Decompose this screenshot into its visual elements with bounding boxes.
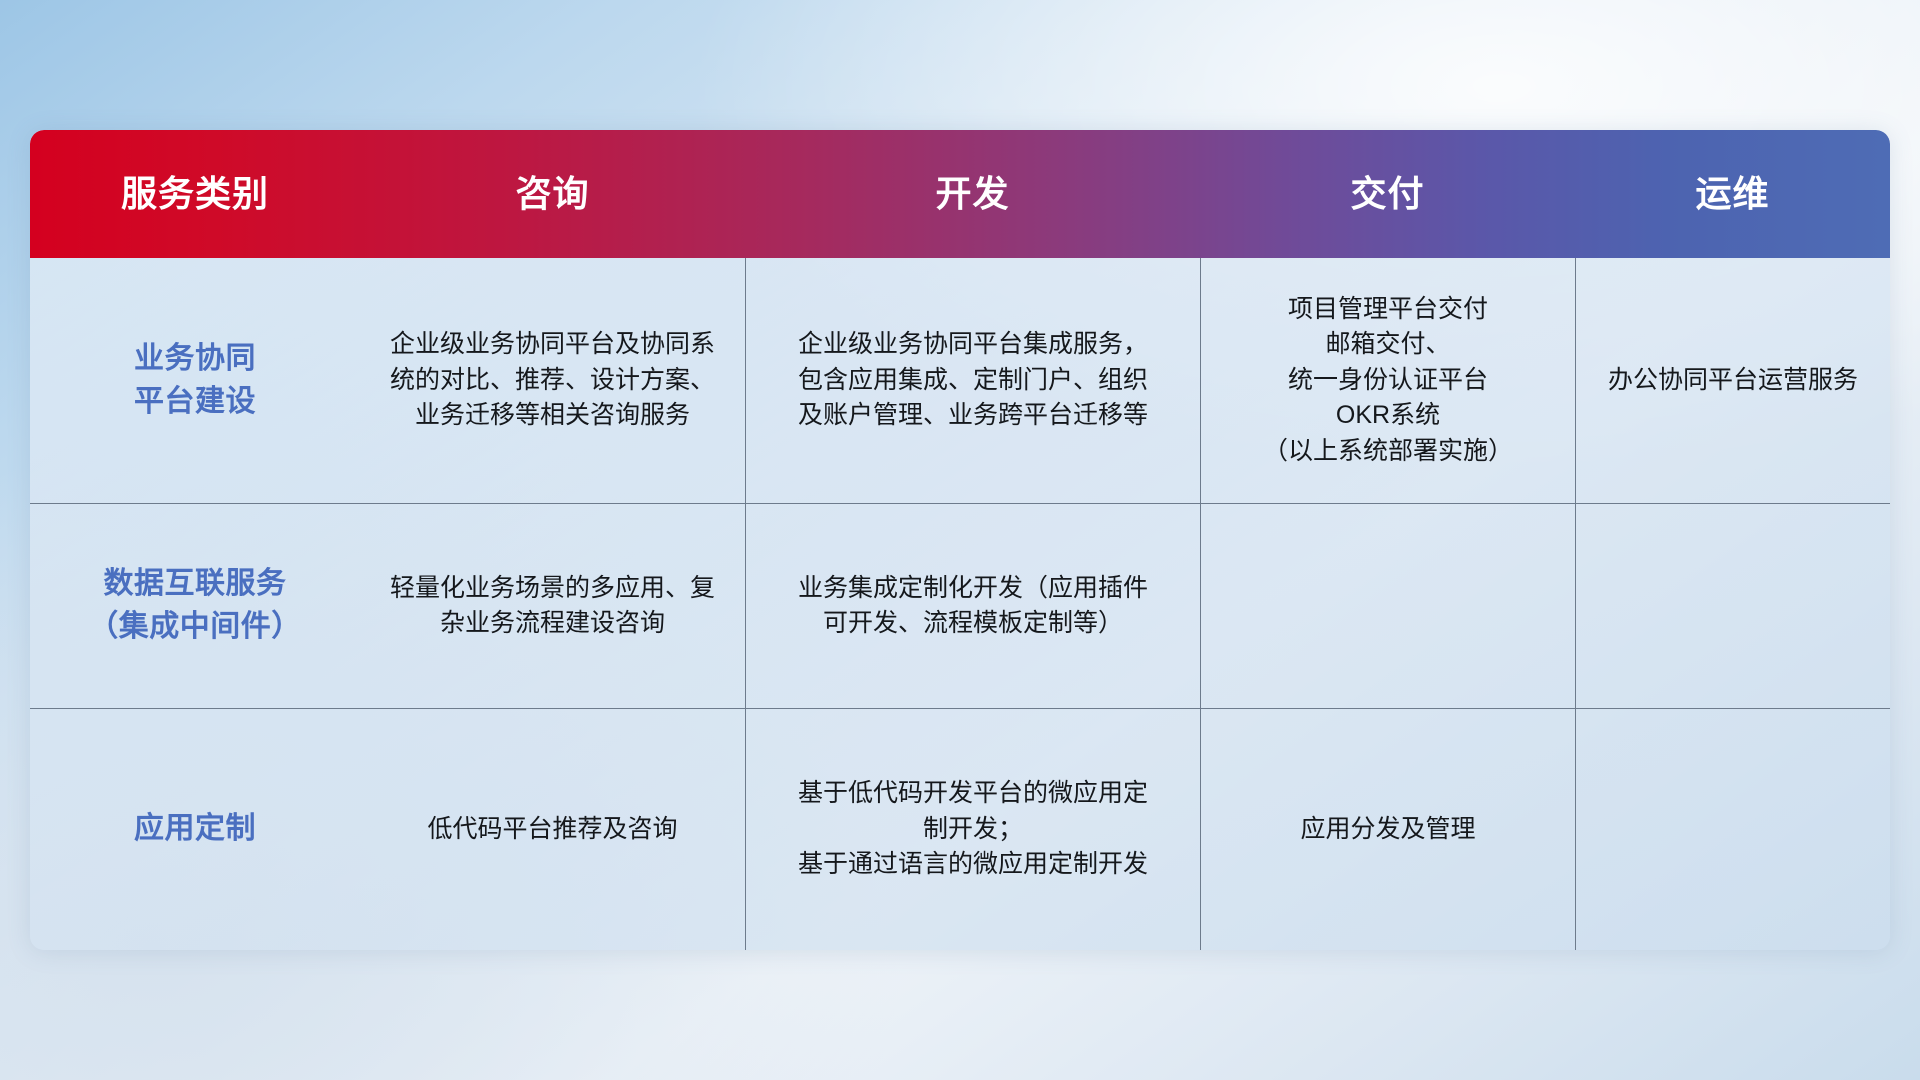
cell-development: 企业级业务协同平台集成服务， 包含应用集成、定制门户、组织 及账户管理、业务跨平… xyxy=(745,258,1200,503)
column-header-operations: 运维 xyxy=(1575,176,1890,212)
cell-delivery: 项目管理平台交付 邮箱交付、 统一身份认证平台 OKR系统 （以上系统部署实施） xyxy=(1200,258,1575,503)
service-matrix-table: 服务类别 咨询 开发 交付 运维 业务协同 平台建设 企业级业务协同平台及协同系… xyxy=(30,130,1890,950)
table-header-row: 服务类别 咨询 开发 交付 运维 xyxy=(30,130,1890,258)
table-row: 应用定制 低代码平台推荐及咨询 基于低代码开发平台的微应用定 制开发； 基于通过… xyxy=(30,708,1890,950)
cell-development: 业务集成定制化开发（应用插件 可开发、流程模板定制等） xyxy=(745,504,1200,708)
slide-canvas: 服务类别 咨询 开发 交付 运维 业务协同 平台建设 企业级业务协同平台及协同系… xyxy=(0,0,1920,1080)
column-header-service-category: 服务类别 xyxy=(30,176,360,212)
column-header-development: 开发 xyxy=(745,176,1200,212)
cell-consulting: 轻量化业务场景的多应用、复 杂业务流程建设咨询 xyxy=(360,504,745,708)
table-row: 业务协同 平台建设 企业级业务协同平台及协同系 统的对比、推荐、设计方案、 业务… xyxy=(30,258,1890,503)
table-row: 数据互联服务 （集成中间件） 轻量化业务场景的多应用、复 杂业务流程建设咨询 业… xyxy=(30,503,1890,708)
column-header-delivery: 交付 xyxy=(1200,176,1575,212)
column-header-consulting: 咨询 xyxy=(360,176,745,212)
cell-consulting: 低代码平台推荐及咨询 xyxy=(360,709,745,950)
cell-operations: 办公协同平台运营服务 xyxy=(1575,258,1890,503)
cell-delivery: 应用分发及管理 xyxy=(1200,709,1575,950)
cell-delivery xyxy=(1200,504,1575,708)
row-category-label: 数据互联服务 （集成中间件） xyxy=(30,504,360,708)
row-category-label: 应用定制 xyxy=(30,709,360,950)
cell-development: 基于低代码开发平台的微应用定 制开发； 基于通过语言的微应用定制开发 xyxy=(745,709,1200,950)
cell-operations xyxy=(1575,504,1890,708)
cell-consulting: 企业级业务协同平台及协同系 统的对比、推荐、设计方案、 业务迁移等相关咨询服务 xyxy=(360,258,745,503)
cell-operations xyxy=(1575,709,1890,950)
row-category-label: 业务协同 平台建设 xyxy=(30,258,360,503)
table-body: 业务协同 平台建设 企业级业务协同平台及协同系 统的对比、推荐、设计方案、 业务… xyxy=(30,258,1890,950)
